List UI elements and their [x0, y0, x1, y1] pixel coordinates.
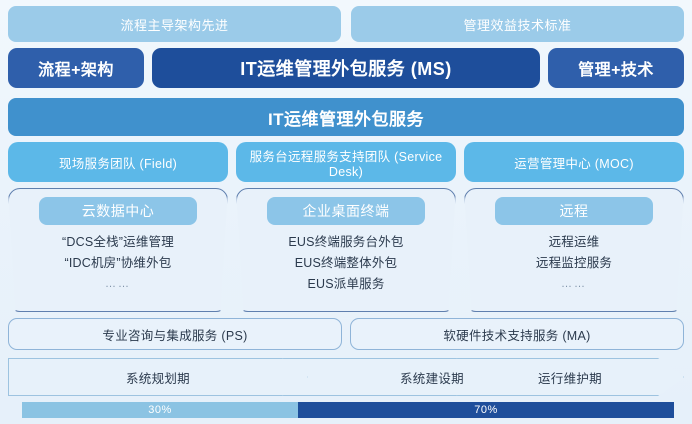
ms-right-tag-label: 管理+技术	[578, 56, 654, 80]
effort-segment-30: 30%	[22, 402, 298, 418]
card-header-label: 远程	[559, 201, 588, 221]
card-header: 企业桌面终端	[267, 197, 425, 225]
card-header-label: 云数据中心	[82, 201, 155, 221]
card-item: “DCS全栈”运维管理	[62, 233, 174, 251]
lifecycle-phase-row: 系统规划期 系统建设期 运行维护期	[8, 358, 684, 396]
card-ellipsis: ……	[561, 275, 587, 293]
card-header: 云数据中心	[39, 197, 197, 225]
service-card-remote[interactable]: 远程 远程运维 远程监控服务 ……	[464, 188, 684, 312]
team-pill-service-desk[interactable]: 服务台远程服务支持团队 (Service Desk)	[236, 142, 456, 182]
card-item: EUS派单服务	[307, 275, 384, 293]
card-header-label: 企业桌面终端	[302, 201, 389, 221]
card-item: EUS终端整体外包	[295, 254, 398, 272]
value-pill-management-technology[interactable]: 管理效益技术标准	[351, 6, 684, 42]
value-pill-process-architecture[interactable]: 流程主导架构先进	[8, 6, 341, 42]
service-title-bar[interactable]: IT运维管理外包服务	[8, 98, 684, 136]
ms-center-title-label: IT运维管理外包服务 (MS)	[240, 55, 452, 81]
effort-split-bar: 30% 70%	[22, 402, 674, 418]
effort-segment-label: 30%	[148, 404, 172, 416]
team-pill-moc[interactable]: 运营管理中心 (MOC)	[464, 142, 684, 182]
ms-left-tag[interactable]: 流程+架构	[8, 48, 144, 88]
card-item-list: 远程运维 远程监控服务 ……	[536, 233, 612, 293]
phase-label: 系统规划期	[126, 368, 190, 387]
ms-left-tag-label: 流程+架构	[38, 56, 114, 80]
service-card-enterprise-desktop[interactable]: 企业桌面终端 EUS终端服务台外包 EUS终端整体外包 EUS派单服务	[236, 188, 456, 312]
support-box-label: 软硬件技术支持服务 (MA)	[443, 325, 590, 344]
team-pill-label: 运营管理中心 (MOC)	[514, 153, 634, 172]
support-box-label: 专业咨询与集成服务 (PS)	[102, 325, 247, 344]
value-pill-label: 管理效益技术标准	[463, 15, 571, 34]
it-operations-outsourcing-diagram: 流程主导架构先进 管理效益技术标准 流程+架构 IT运维管理外包服务 (MS) …	[0, 0, 692, 424]
card-item: “IDC机房”协维外包	[64, 254, 171, 272]
value-proposition-row: 流程主导架构先进 管理效益技术标准	[8, 6, 684, 42]
card-item: 远程监控服务	[536, 254, 612, 272]
team-pill-field[interactable]: 现场服务团队 (Field)	[8, 142, 228, 182]
value-pill-label: 流程主导架构先进	[120, 15, 228, 34]
ms-center-title[interactable]: IT运维管理外包服务 (MS)	[152, 48, 540, 88]
card-item-list: “DCS全栈”运维管理 “IDC机房”协维外包 ……	[62, 233, 174, 293]
card-ellipsis: ……	[105, 275, 131, 293]
phase-label: 系统建设期	[400, 368, 464, 387]
effort-segment-label: 70%	[474, 404, 498, 416]
card-item: 远程运维	[549, 233, 600, 251]
card-item: EUS终端服务台外包	[288, 233, 403, 251]
delivery-team-row: 现场服务团队 (Field) 服务台远程服务支持团队 (Service Desk…	[8, 142, 684, 182]
service-card-cloud-datacenter[interactable]: 云数据中心 “DCS全栈”运维管理 “IDC机房”协维外包 ……	[8, 188, 228, 312]
service-domain-card-row: 云数据中心 “DCS全栈”运维管理 “IDC机房”协维外包 …… 企业桌面终端 …	[8, 188, 684, 312]
card-header: 远程	[495, 197, 653, 225]
ms-headline-row: 流程+架构 IT运维管理外包服务 (MS) 管理+技术	[8, 48, 684, 88]
support-box-ma[interactable]: 软硬件技术支持服务 (MA)	[350, 318, 684, 350]
support-box-ps[interactable]: 专业咨询与集成服务 (PS)	[8, 318, 342, 350]
team-pill-label: 现场服务团队 (Field)	[59, 153, 177, 172]
phase-chevron-planning[interactable]: 系统规划期	[8, 358, 308, 396]
phase-label: 运行维护期	[538, 368, 602, 387]
card-item-list: EUS终端服务台外包 EUS终端整体外包 EUS派单服务	[288, 233, 403, 293]
support-service-row: 专业咨询与集成服务 (PS) 软硬件技术支持服务 (MA)	[8, 318, 684, 350]
effort-segment-70: 70%	[298, 402, 674, 418]
team-pill-label: 服务台远程服务支持团队 (Service Desk)	[240, 146, 452, 179]
phase-chevron-operation[interactable]: 运行维护期	[456, 358, 684, 396]
service-title-bar-label: IT运维管理外包服务	[268, 105, 424, 130]
ms-right-tag[interactable]: 管理+技术	[548, 48, 684, 88]
